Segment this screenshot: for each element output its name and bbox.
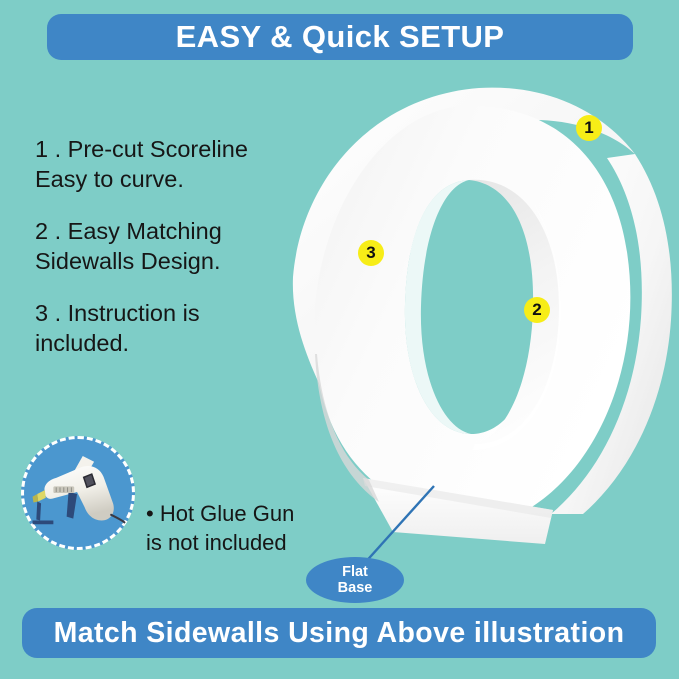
feature-3-line-1: 3 . Instruction is — [35, 298, 325, 328]
feature-1-line-1: 1 . Pre-cut Scoreline — [35, 134, 325, 164]
feature-item-2: 2 . Easy Matching Sidewalls Design. — [35, 216, 325, 276]
product-infographic: EASY & Quick SETUP — [0, 0, 679, 679]
header-title: EASY & Quick SETUP — [176, 19, 505, 55]
footer-banner: Match Sidewalls Using Above illustration — [22, 608, 656, 658]
feature-3-line-2: included. — [35, 328, 325, 358]
glue-note-line-2: is not included — [146, 529, 346, 558]
flat-base-line-1: Flat — [342, 564, 368, 580]
callout-badge-2: 2 — [524, 297, 550, 323]
badge-label: 3 — [366, 243, 375, 263]
glue-gun-badge — [21, 436, 135, 550]
badge-label: 2 — [532, 300, 541, 320]
feature-item-3: 3 . Instruction is included. — [35, 298, 325, 358]
glue-note-line-1: • Hot Glue Gun — [146, 500, 346, 529]
letter-illustration — [283, 62, 679, 552]
feature-item-1: 1 . Pre-cut Scoreline Easy to curve. — [35, 134, 325, 194]
header-banner: EASY & Quick SETUP — [47, 14, 633, 60]
glue-gun-note: • Hot Glue Gun is not included — [146, 500, 346, 557]
feature-list: 1 . Pre-cut Scoreline Easy to curve. 2 .… — [35, 134, 325, 358]
flat-base-line-2: Base — [338, 580, 373, 596]
footer-title: Match Sidewalls Using Above illustration — [54, 617, 625, 650]
badge-label: 1 — [584, 118, 593, 138]
feature-2-line-1: 2 . Easy Matching — [35, 216, 325, 246]
feature-1-line-2: Easy to curve. — [35, 164, 325, 194]
glue-gun-icon — [24, 439, 132, 547]
callout-badge-3: 3 — [358, 240, 384, 266]
feature-2-line-2: Sidewalls Design. — [35, 246, 325, 276]
callout-badge-1: 1 — [576, 115, 602, 141]
flat-base-callout: Flat Base — [306, 557, 404, 603]
